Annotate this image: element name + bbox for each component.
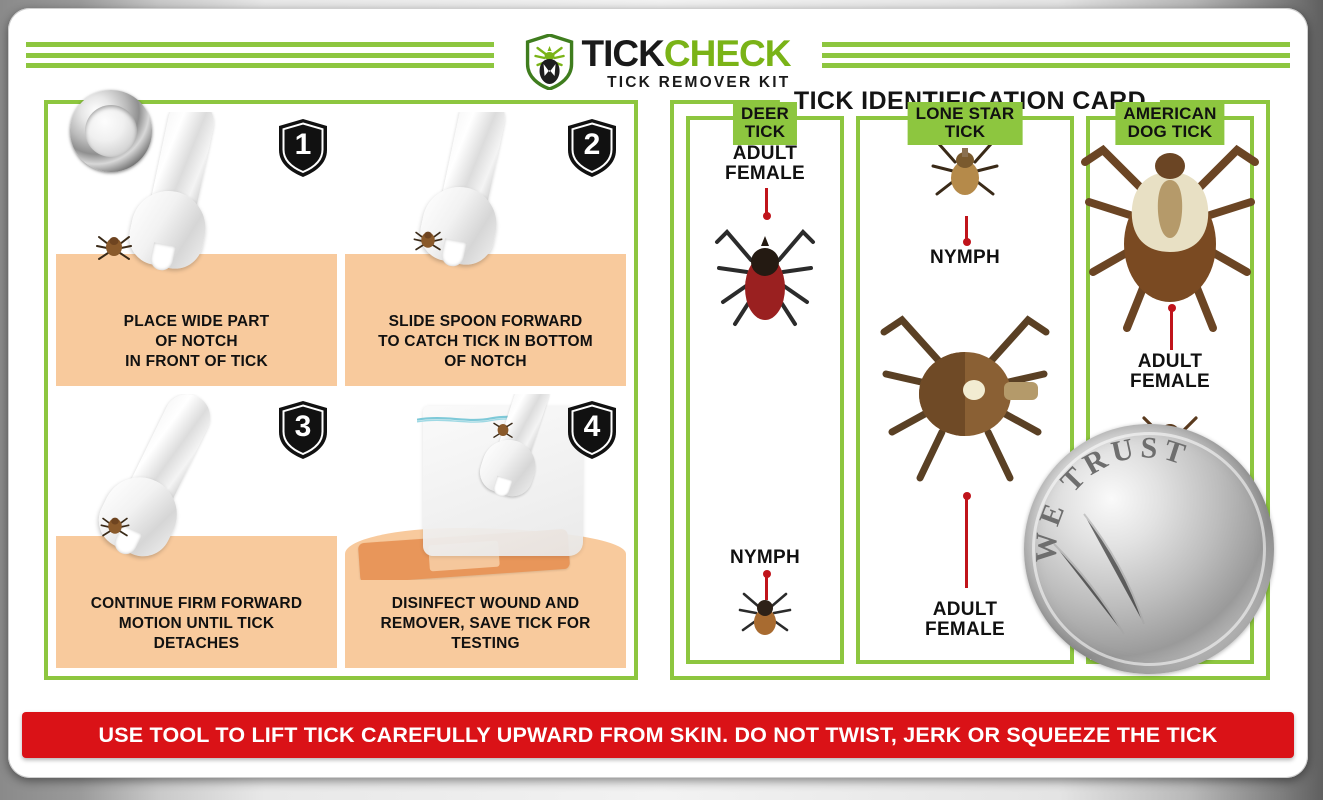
step-3-badge: 3 [277,400,329,460]
species-deer-tick: DEER TICK ADULT FEMALE [686,116,844,664]
step-2-line-3: OF NOTCH [378,352,593,372]
step-4-line-2: REMOVER, SAVE TICK FOR [381,614,591,634]
step-2: 2 SLIDE SPOON FORWARD TO CATCH TICK IN B… [345,112,626,386]
tick-detaching-icon [98,510,132,544]
step-2-line-2: TO CATCH TICK IN BOTTOM [378,332,593,352]
warning-banner-text: USE TOOL TO LIFT TICK CAREFULLY UPWARD F… [99,723,1218,748]
tick-remover-card: TICKCHECK TICK REMOVER KIT [8,8,1308,778]
species-label-american-dog-tick: AMERICAN DOG TICK [1115,102,1224,145]
step-1-line-2: OF NOTCH [124,332,270,352]
step-1-line-1: PLACE WIDE PART [124,312,270,332]
step-4-illustration: 4 [345,394,626,580]
coin-legend-text: WE TRUST [1030,431,1194,563]
lone-star-tick-adult-female-label: ADULT FEMALE [925,600,1005,640]
card-header: TICKCHECK TICK REMOVER KIT [8,8,1308,96]
american-dog-tick-adult-female-label: ADULT FEMALE [1130,352,1210,392]
removal-instructions-panel: 1 PLACE WIDE PART OF NOTCH IN FRONT OF T… [44,100,638,680]
step-4-caption: DISINFECT WOUND AND REMOVER, SAVE TICK F… [345,580,626,668]
brand-tagline: TICK REMOVER KIT [582,74,791,92]
lone-star-tick-nymph-label: NYMPH [930,248,1000,268]
deer-tick-adult-female-icon [709,216,821,338]
deer-tick-adult-female-label: ADULT FEMALE [725,144,805,184]
brand-logo: TICKCHECK TICK REMOVER KIT [526,34,791,92]
header-stripes-left [26,42,494,68]
step-4-badge: 4 [566,400,618,460]
step-1-caption: PLACE WIDE PART OF NOTCH IN FRONT OF TIC… [56,298,337,386]
step-4-number: 4 [566,400,618,460]
brand-name-tick: TICK [582,33,664,74]
step-4-line-1: DISINFECT WOUND AND [381,594,591,614]
tick-in-notch-icon [411,224,445,258]
tick-on-skin-icon [94,228,134,268]
step-2-number: 2 [566,118,618,178]
header-stripes-right [822,42,1290,68]
step-3-line-3: DETACHES [91,634,302,654]
silver-coin-scale-reference-icon: WE TRUST [1024,424,1274,674]
brand-name-check: CHECK [664,33,791,74]
step-1-line-3: IN FRONT OF TICK [124,352,270,372]
species-label-deer-tick: DEER TICK [733,102,797,145]
warning-banner: USE TOOL TO LIFT TICK CAREFULLY UPWARD F… [22,712,1294,758]
step-3-number: 3 [277,400,329,460]
step-2-badge: 2 [566,118,618,178]
species-label-lone-star-tick: LONE STAR TICK [908,102,1023,145]
step-3-caption: CONTINUE FIRM FORWARD MOTION UNTIL TICK … [56,580,337,668]
step-3-line-2: MOTION UNTIL TICK [91,614,302,634]
step-1-number: 1 [277,118,329,178]
step-2-illustration: 2 [345,112,626,298]
step-4: 4 DISINFECT WOUND AND REMOVER, SAVE TICK… [345,394,626,668]
step-3-illustration: 3 [56,394,337,580]
step-3-line-1: CONTINUE FIRM FORWARD [91,594,302,614]
step-1-badge: 1 [277,118,329,178]
deer-tick-nymph-label: NYMPH [730,548,800,568]
eyelet-grommet-icon [70,90,152,172]
lone-star-tick-nymph-icon [929,136,1001,214]
tick-shield-logo-icon [526,34,574,90]
tick-in-bag-icon [491,418,515,442]
step-2-caption: SLIDE SPOON FORWARD TO CATCH TICK IN BOT… [345,298,626,386]
deer-tick-nymph-icon [736,586,794,646]
svg-text:WE TRUST: WE TRUST [1030,431,1194,563]
step-4-line-3: TESTING [381,634,591,654]
step-2-line-1: SLIDE SPOON FORWARD [378,312,593,332]
step-3: 3 CONTINUE FIRM FORWARD MOTION UNTIL TIC… [56,394,337,668]
